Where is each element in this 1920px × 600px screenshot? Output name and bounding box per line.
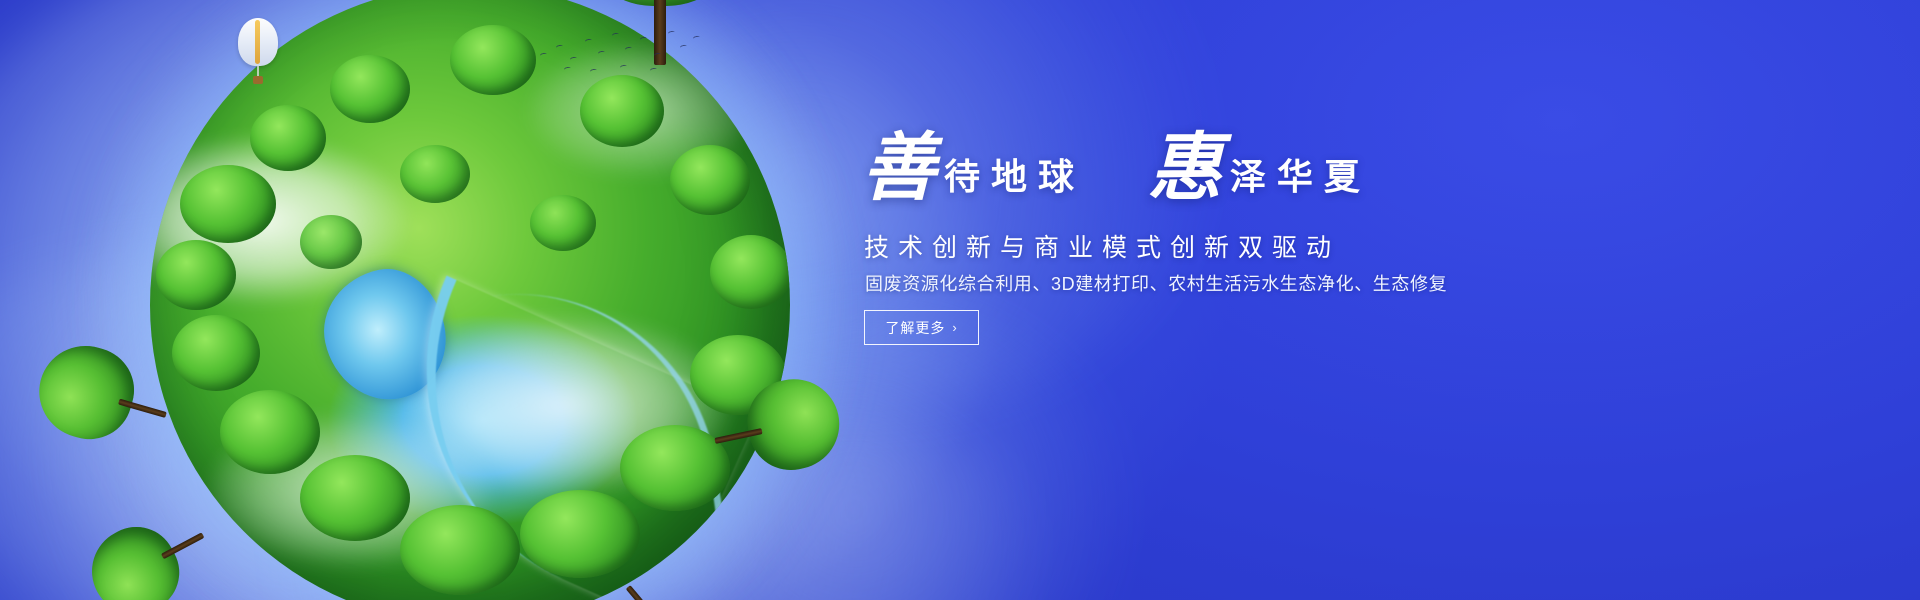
tiny-planet-globe-image xyxy=(150,0,790,600)
banner-content: 善待地球 惠泽华夏 技术创新与商业模式创新双驱动 固废资源化综合利用、3D建材打… xyxy=(862,0,1862,600)
headline-chars-small-2: 泽华夏 xyxy=(1230,157,1371,197)
headline-char-large-1: 善 xyxy=(862,128,938,210)
chevron-right-icon: › xyxy=(952,321,957,334)
hot-air-balloon-icon xyxy=(238,18,278,88)
hero-banner: 善待地球 惠泽华夏 技术创新与商业模式创新双驱动 固废资源化综合利用、3D建材打… xyxy=(0,0,1920,600)
headline-chars-small-1: 待地球 xyxy=(944,157,1085,197)
globe-sphere xyxy=(150,0,790,600)
learn-more-button[interactable]: 了解更多 › xyxy=(864,310,979,345)
headline-char-large-2: 惠 xyxy=(1148,128,1224,210)
banner-description: 固废资源化综合利用、3D建材打印、农村生活污水生态净化、生态修复 xyxy=(865,270,1447,296)
globe-vegetation xyxy=(150,0,790,600)
headline-group-1: 善待地球 xyxy=(862,132,1085,206)
page-title: 善待地球 惠泽华夏 xyxy=(862,132,1371,206)
banner-tagline: 技术创新与商业模式创新双驱动 xyxy=(864,228,1340,264)
learn-more-label: 了解更多 xyxy=(885,318,945,338)
bird-flock-icon xyxy=(530,23,710,83)
headline-group-2: 惠泽华夏 xyxy=(1148,132,1371,206)
